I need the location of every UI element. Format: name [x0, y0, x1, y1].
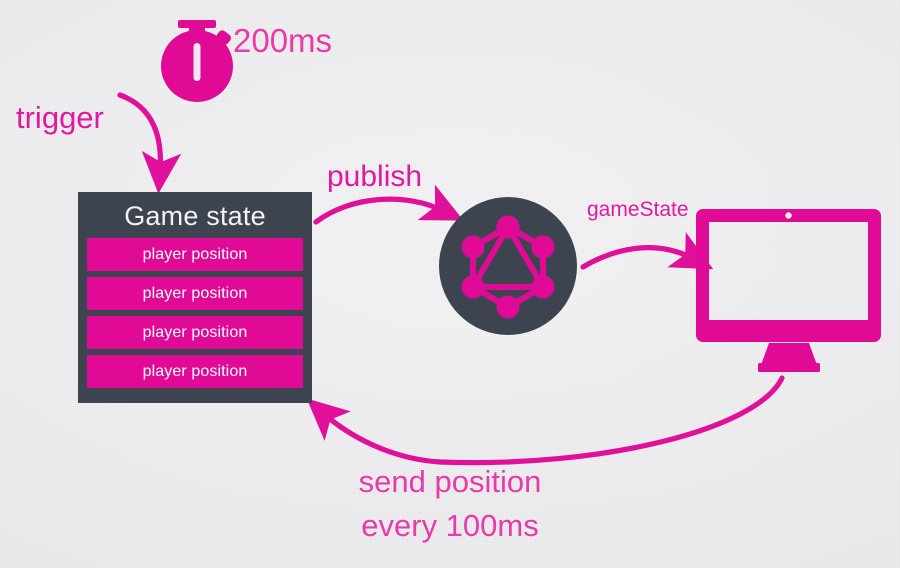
trigger-label: trigger: [16, 100, 104, 136]
gamestate-arrow: [583, 248, 694, 267]
game-state-title: Game state: [87, 198, 303, 236]
trigger-arrow: [120, 95, 160, 172]
stopwatch-icon: [161, 20, 233, 102]
publish-arrow: [316, 199, 444, 222]
list-item: player position: [87, 277, 303, 310]
caption-line-1: send position: [0, 460, 900, 504]
list-item: player position: [87, 238, 303, 271]
timer-interval-label: 200ms: [233, 22, 332, 60]
game-state-panel: Game state player position player positi…: [78, 192, 312, 403]
publish-label: publish: [327, 160, 422, 194]
send-position-caption: send position every 100ms: [0, 460, 900, 548]
list-item: player position: [87, 355, 303, 388]
gamestate-label: gameState: [587, 198, 689, 222]
list-item: player position: [87, 316, 303, 349]
player-position-list: player position player position player p…: [87, 238, 303, 388]
graphql-logo-icon: [439, 197, 577, 335]
caption-line-2: every 100ms: [0, 504, 900, 548]
send-position-arrow: [323, 378, 782, 463]
monitor-icon: [696, 209, 881, 372]
diagram-canvas: Game state player position player positi…: [0, 0, 900, 568]
